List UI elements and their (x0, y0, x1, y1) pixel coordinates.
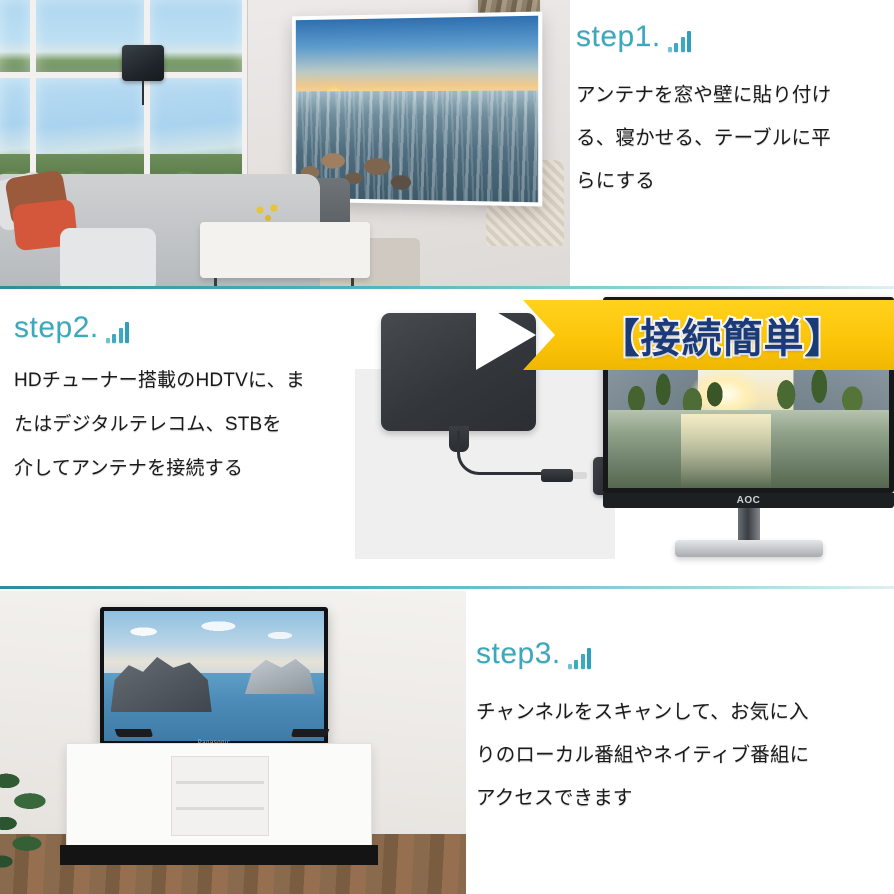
step2-label-text: step2. (14, 313, 99, 343)
media-console (66, 743, 372, 847)
step3-label: step3. (476, 639, 894, 669)
monitor-stand-base (675, 540, 823, 557)
step1-section: step1. アンテナを窓や壁に貼り付け る、寝かせる、テーブルに平 らにする (0, 0, 894, 288)
step2-line-2: たはデジタルテレコム、STBを (14, 403, 344, 447)
step3-description: チャンネルをスキャンして、お気に入 りのローカル番組やネイティブ番組に アクセス… (476, 691, 894, 820)
console-plinth (60, 845, 378, 865)
television: Panasonic (100, 607, 328, 745)
step1-line-3: らにする (576, 160, 894, 203)
coffee-table (200, 222, 370, 278)
flower-vase (252, 202, 286, 228)
monitor-brand-logo: AOC (737, 495, 761, 506)
tv-foot-left (115, 729, 154, 737)
lake-sun-glow (681, 414, 771, 488)
house-plant (0, 763, 58, 875)
step2-text-block: step2. HDチューナー搭載のHDTVに、ま たはデジタルテレコム、STBを… (14, 313, 344, 491)
step2-description: HDチューナー搭載のHDTVに、ま たはデジタルテレコム、STBを 介してアンテ… (14, 359, 344, 491)
step3-label-text: step3. (476, 639, 561, 669)
step3-line-1: チャンネルをスキャンして、お気に入 (476, 691, 894, 734)
step2-line-1: HDチューナー搭載のHDTVに、ま (14, 359, 344, 403)
step3-photo: Panasonic (0, 591, 466, 894)
product-infographic: step1. アンテナを窓や壁に貼り付け る、寝かせる、テーブルに平 らにする … (0, 0, 894, 894)
window-pane (0, 0, 30, 72)
step1-line-2: る、寝かせる、テーブルに平 (576, 117, 894, 160)
step3-section: Panasonic step3. チャンネルをスキャンして、お気に入 りのローカ… (0, 591, 894, 894)
step2-line-3: 介してアンテナを接続する (14, 447, 344, 491)
section-divider (0, 586, 894, 589)
signal-bars-icon (106, 319, 130, 343)
tv-screen (104, 611, 324, 741)
projector-screen-image (296, 16, 538, 203)
step1-line-1: アンテナを窓や壁に貼り付け (576, 74, 894, 117)
step3-line-2: りのローカル番組やネイティブ番組に (476, 734, 894, 777)
step1-label: step1. (576, 22, 894, 52)
step2-label: step2. (14, 313, 344, 343)
window-mounted-antenna (122, 45, 164, 81)
step1-photo (0, 0, 570, 288)
tv-clouds (104, 616, 324, 655)
section-divider (0, 286, 894, 289)
coaxial-cable (457, 431, 545, 475)
step1-label-text: step1. (576, 22, 661, 52)
step1-text-block: step1. アンテナを窓や壁に貼り付け る、寝かせる、テーブルに平 らにする (576, 22, 894, 203)
console-shelf (171, 756, 269, 836)
step3-line-3: アクセスできます (476, 777, 894, 820)
step3-text-block: step3. チャンネルをスキャンして、お気に入 りのローカル番組やネイティブ番… (476, 639, 894, 820)
feature-banner-label-wrap: 【接続簡単】 (495, 300, 894, 370)
step1-description: アンテナを窓や壁に貼り付け る、寝かせる、テーブルに平 らにする (576, 74, 894, 203)
feature-banner-label: 【接続簡単】 (600, 306, 846, 364)
signal-bars-icon (568, 645, 592, 669)
signal-bars-icon (668, 28, 692, 52)
coaxial-connector (541, 469, 573, 482)
throw-pillow (60, 228, 156, 288)
tv-foot-right (291, 729, 330, 737)
